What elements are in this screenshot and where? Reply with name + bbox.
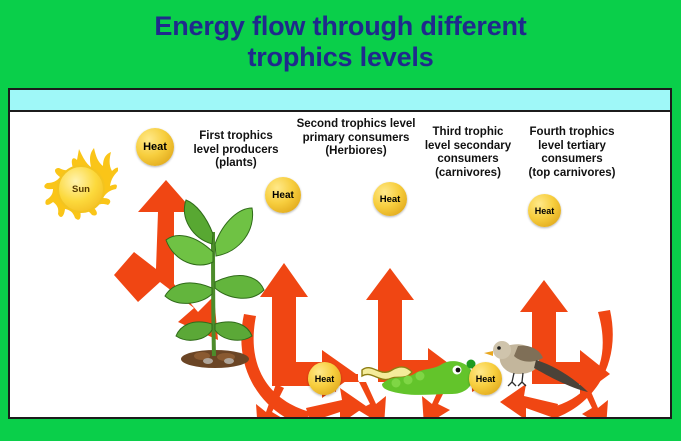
heat-label: Heat [535,206,555,216]
diagram-canvas: Sun Heat Heat Heat Heat Heat Heat [10,112,670,417]
organism-sun: Sun [40,148,118,226]
heat-node-worm: Heat [373,182,407,216]
heat-label: Heat [315,374,335,384]
heat-label: Heat [476,374,496,384]
title-line-1: Energy flow through different [154,11,526,42]
page-title: Energy flow through different trophics l… [0,0,681,84]
heat-node-bird: Heat [528,194,561,227]
diagram-panel: Sun Heat Heat Heat Heat Heat Heat [8,88,672,419]
title-line-2: trophics levels [247,42,433,73]
heat-node-decomposer-right: Heat [469,362,502,395]
heat-label: Heat [272,190,294,201]
heat-node-sun: Heat [136,128,174,166]
heat-node-plant: Heat [265,177,301,213]
heat-node-decomposer-left: Heat [308,362,341,395]
sun-label: Sun [72,184,90,195]
sun-core: Sun [57,165,105,213]
heat-label: Heat [143,141,167,153]
trophic-label-fourth: Fourth trophicslevel tertiaryconsumers(t… [508,126,636,180]
panel-header-band [10,90,670,112]
heat-label: Heat [380,194,401,205]
slide-root: Energy flow through different trophics l… [0,0,681,441]
